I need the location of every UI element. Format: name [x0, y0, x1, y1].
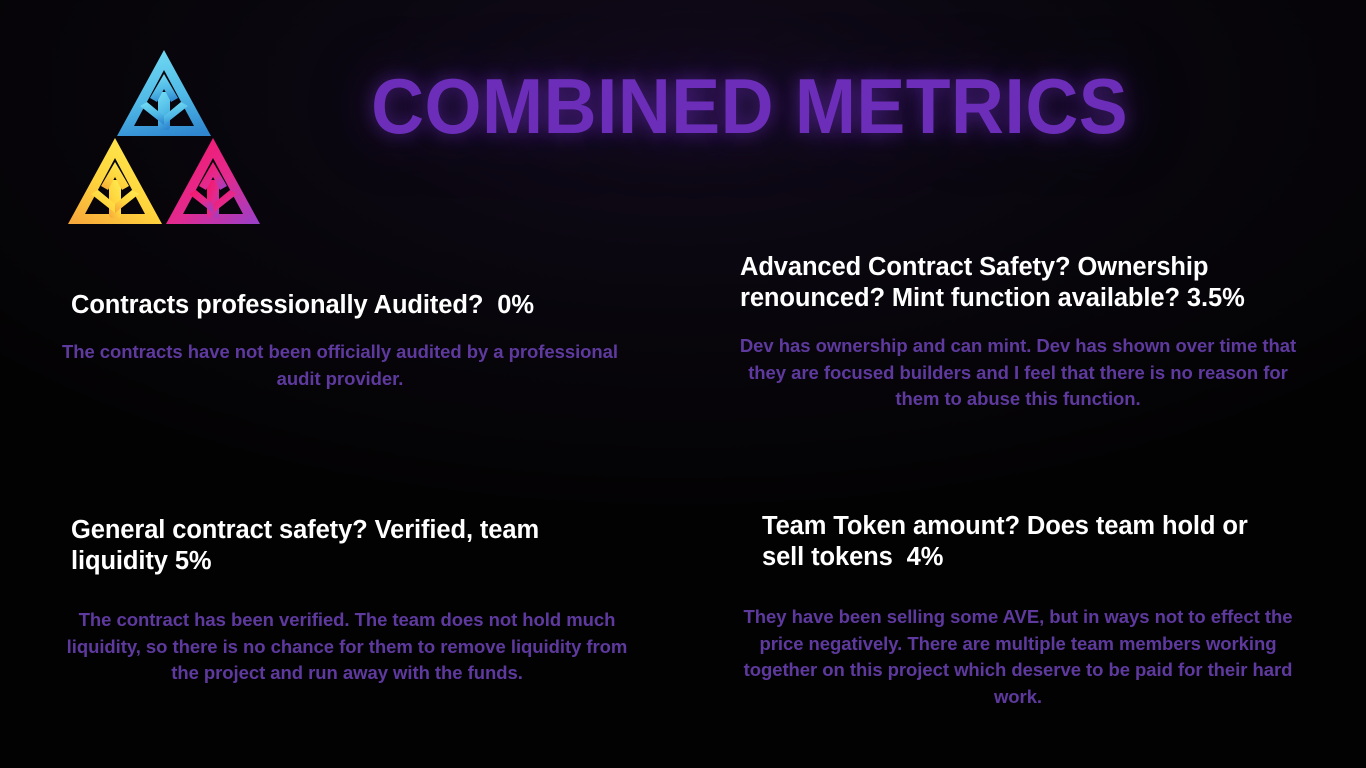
metrics-grid: Contracts professionally Audited? 0% The… [0, 240, 1366, 768]
metric-body: The contract has been verified. The team… [40, 607, 654, 687]
metric-heading: Team Token amount? Does team hold or sel… [712, 511, 1324, 573]
metric-card-team-token: Team Token amount? Does team hold or sel… [712, 511, 1324, 710]
metric-heading: Contracts professionally Audited? 0% [40, 290, 640, 321]
page-title: COMBINED METRICS [371, 56, 1095, 156]
metric-card-advanced-safety: Advanced Contract Safety? Ownership reno… [712, 252, 1324, 413]
metric-heading: Advanced Contract Safety? Ownership reno… [712, 252, 1324, 314]
slide-header: COMBINED METRICS [0, 0, 1366, 240]
metric-body: The contracts have not been officially a… [40, 339, 640, 392]
slide-canvas: COMBINED METRICS Contracts professionall… [0, 0, 1366, 768]
metric-heading: General contract safety? Verified, team … [40, 515, 654, 577]
metric-body: Dev has ownership and can mint. Dev has … [712, 333, 1324, 413]
metric-card-audited: Contracts professionally Audited? 0% The… [40, 290, 640, 392]
metric-card-general-safety: General contract safety? Verified, team … [40, 515, 654, 687]
tri-chevron-logo [62, 48, 266, 226]
metric-body: They have been selling some AVE, but in … [712, 604, 1324, 710]
